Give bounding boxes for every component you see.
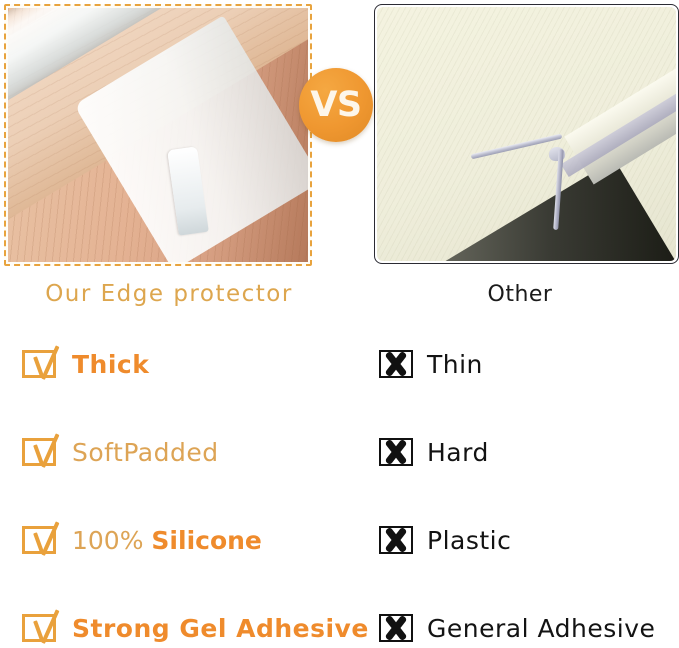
feature-item-other: Plastic bbox=[379, 516, 511, 564]
feature-item-other: Hard bbox=[379, 428, 489, 476]
feature-label-lead: 100% bbox=[72, 526, 151, 555]
feature-label-other: Hard bbox=[427, 440, 489, 465]
feature-comparison-list: Thick Thin SoftPadded Hard bbox=[0, 340, 679, 648]
feature-label-ours: Thick bbox=[72, 352, 149, 377]
feature-label-ours: SoftPadded bbox=[72, 440, 219, 465]
cross-mark-box-icon bbox=[379, 614, 413, 642]
column-heading-other: Other bbox=[370, 278, 670, 310]
check-mark-box-icon bbox=[22, 614, 56, 642]
check-mark-box-icon bbox=[22, 350, 56, 378]
cross-mark-box-icon bbox=[379, 438, 413, 466]
feature-row: Strong Gel Adhesive General Adhesive bbox=[0, 604, 679, 648]
feature-label-ours: 100% Silicone bbox=[72, 528, 262, 553]
check-mark-box-icon bbox=[22, 526, 56, 554]
feature-row: Thick Thin bbox=[0, 340, 679, 428]
comparison-infographic: VS Our Edge protector Other Thick bbox=[0, 0, 679, 648]
feature-label-ours: Strong Gel Adhesive bbox=[72, 616, 369, 641]
feature-item-ours: Thick bbox=[22, 340, 149, 388]
feature-label-other: Thin bbox=[427, 352, 483, 377]
cross-mark-box-icon bbox=[379, 350, 413, 378]
vs-badge: VS bbox=[299, 68, 373, 142]
feature-item-ours: SoftPadded bbox=[22, 428, 219, 476]
cross-mark-box-icon bbox=[379, 526, 413, 554]
check-mark-box-icon bbox=[22, 438, 56, 466]
feature-label-rest: Silicone bbox=[151, 526, 261, 555]
feature-item-ours: Strong Gel Adhesive bbox=[22, 604, 369, 648]
product-photo-ours bbox=[4, 4, 312, 266]
feature-label-other: General Adhesive bbox=[427, 616, 655, 641]
feature-label-other: Plastic bbox=[427, 528, 511, 553]
feature-row: SoftPadded Hard bbox=[0, 428, 679, 516]
feature-item-ours: 100% Silicone bbox=[22, 516, 262, 564]
column-heading-ours: Our Edge protector bbox=[4, 278, 334, 310]
vs-badge-label: VS bbox=[310, 88, 361, 123]
product-photo-other bbox=[374, 4, 679, 264]
feature-item-other: General Adhesive bbox=[379, 604, 655, 648]
feature-row: 100% Silicone Plastic bbox=[0, 516, 679, 604]
feature-item-other: Thin bbox=[379, 340, 483, 388]
